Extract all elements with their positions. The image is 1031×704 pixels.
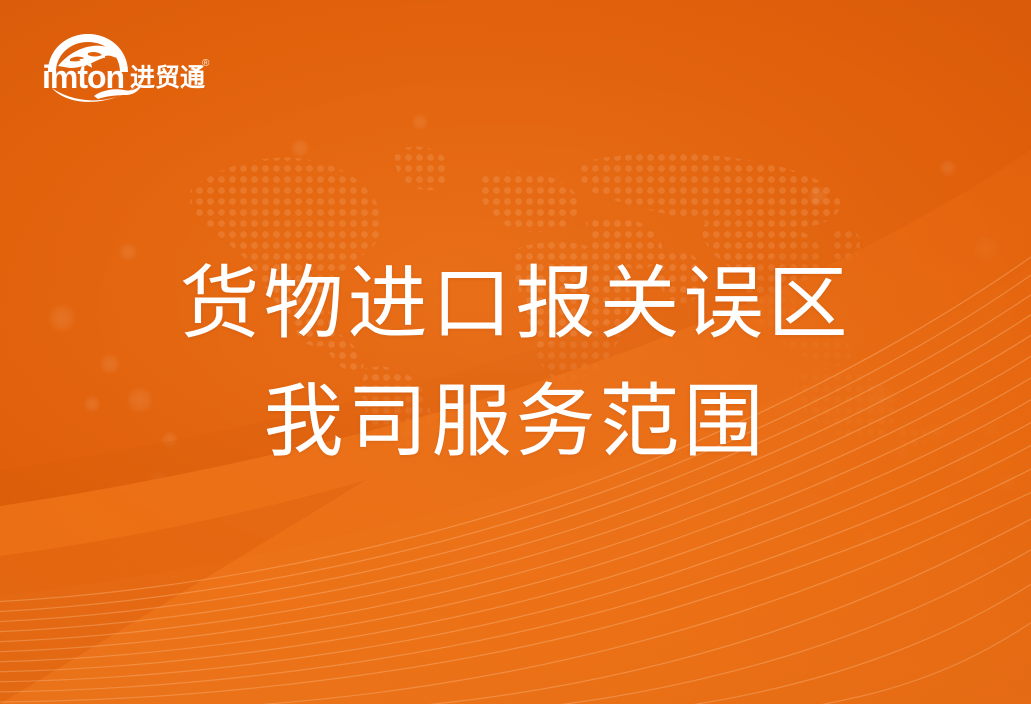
title-line-1: 货物进口报关误区 xyxy=(0,246,1031,364)
logo-chinese-text: 进贸通 xyxy=(130,64,205,92)
slide-title-block: 货物进口报关误区 我司服务范围 xyxy=(0,246,1031,482)
company-logo[interactable]: imton 进贸通 ® xyxy=(36,26,216,104)
registered-trademark-icon: ® xyxy=(202,58,210,69)
title-line-2: 我司服务范围 xyxy=(0,364,1031,482)
logo-latin-text: imton xyxy=(42,59,124,95)
slide-canvas: imton 进贸通 ® 货物进口报关误区 我司服务范围 xyxy=(0,0,1031,704)
